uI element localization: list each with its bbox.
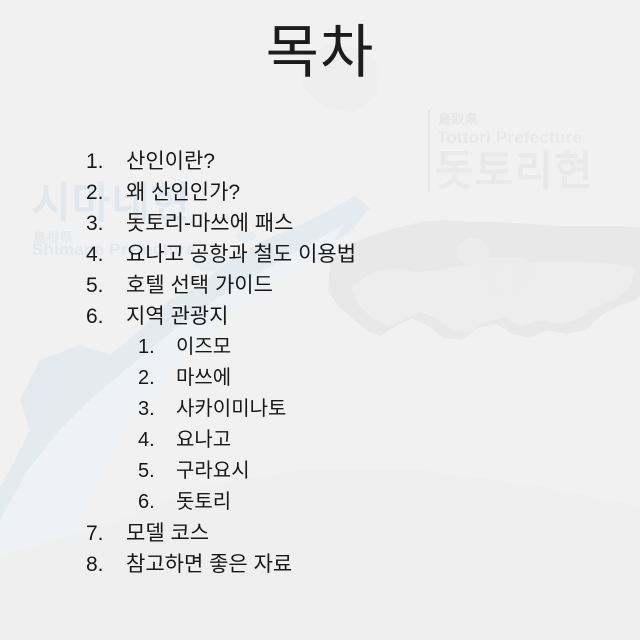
toc-subitem[interactable]: 3. 사카이미나토 xyxy=(0,394,640,425)
toc-subitem-number: 5. xyxy=(138,456,176,487)
toc-item-label: 요나고 공항과 철도 이용법 xyxy=(126,239,356,270)
tottori-watermark-japanese: 鳥取県 xyxy=(438,113,479,126)
tottori-watermark-english: Tottori Prefecture xyxy=(437,129,582,146)
page-title: 목차 xyxy=(0,18,640,88)
toc-item[interactable]: 1. 산인이란? xyxy=(0,146,640,177)
toc-subitem[interactable]: 2. 마쓰에 xyxy=(0,363,640,394)
slide-canvas: 시마네현 島根県 Shimane Prefecture 鳥取県 Tottori … xyxy=(0,0,640,640)
toc-item-label: 호텔 선택 가이드 xyxy=(126,270,273,301)
toc-item-number: 1. xyxy=(86,146,126,177)
toc-item-label: 산인이란? xyxy=(126,146,215,177)
toc-item-number: 2. xyxy=(86,177,126,208)
toc-item[interactable]: 8. 참고하면 좋은 자료 xyxy=(0,549,640,580)
toc-item-number: 3. xyxy=(86,208,126,239)
toc-item-label: 왜 산인인가? xyxy=(126,177,240,208)
toc-item-number: 6. xyxy=(86,301,126,332)
toc-subitem-number: 6. xyxy=(138,487,176,518)
toc-subitem-label: 마쓰에 xyxy=(176,363,231,394)
toc-subitem-number: 4. xyxy=(138,425,176,456)
toc-item[interactable]: 4. 요나고 공항과 철도 이용법 xyxy=(0,239,640,270)
toc-item[interactable]: 6. 지역 관광지 xyxy=(0,301,640,332)
toc-item-label: 돗토리-마쓰에 패스 xyxy=(126,208,293,239)
toc-item-label: 참고하면 좋은 자료 xyxy=(126,549,292,580)
toc-item[interactable]: 2. 왜 산인인가? xyxy=(0,177,640,208)
toc-subitem[interactable]: 1. 이즈모 xyxy=(0,332,640,363)
toc-subitem[interactable]: 6. 돗토리 xyxy=(0,487,640,518)
toc-item-number: 5. xyxy=(86,270,126,301)
toc-subitem-label: 이즈모 xyxy=(176,332,231,363)
toc-subitem[interactable]: 4. 요나고 xyxy=(0,425,640,456)
toc-item-label: 지역 관광지 xyxy=(126,301,228,332)
toc-subitem-label: 사카이미나토 xyxy=(176,394,286,425)
toc-item[interactable]: 7. 모델 코스 xyxy=(0,518,640,549)
toc-item[interactable]: 5. 호텔 선택 가이드 xyxy=(0,270,640,301)
toc-subitem-label: 돗토리 xyxy=(176,487,231,518)
toc-item-number: 8. xyxy=(86,549,126,580)
toc-subitem-label: 구라요시 xyxy=(176,456,250,487)
toc-subitem[interactable]: 5. 구라요시 xyxy=(0,456,640,487)
toc-item-label: 모델 코스 xyxy=(126,518,209,549)
toc-subitem-number: 1. xyxy=(138,332,176,363)
toc-item-number: 4. xyxy=(86,239,126,270)
toc-subitem-number: 2. xyxy=(138,363,176,394)
toc-subitem-number: 3. xyxy=(138,394,176,425)
toc-item[interactable]: 3. 돗토리-마쓰에 패스 xyxy=(0,208,640,239)
toc-subitem-label: 요나고 xyxy=(176,425,231,456)
table-of-contents: 1. 산인이란? 2. 왜 산인인가? 3. 돗토리-마쓰에 패스 4. 요나고… xyxy=(0,146,640,580)
toc-item-number: 7. xyxy=(86,518,126,549)
